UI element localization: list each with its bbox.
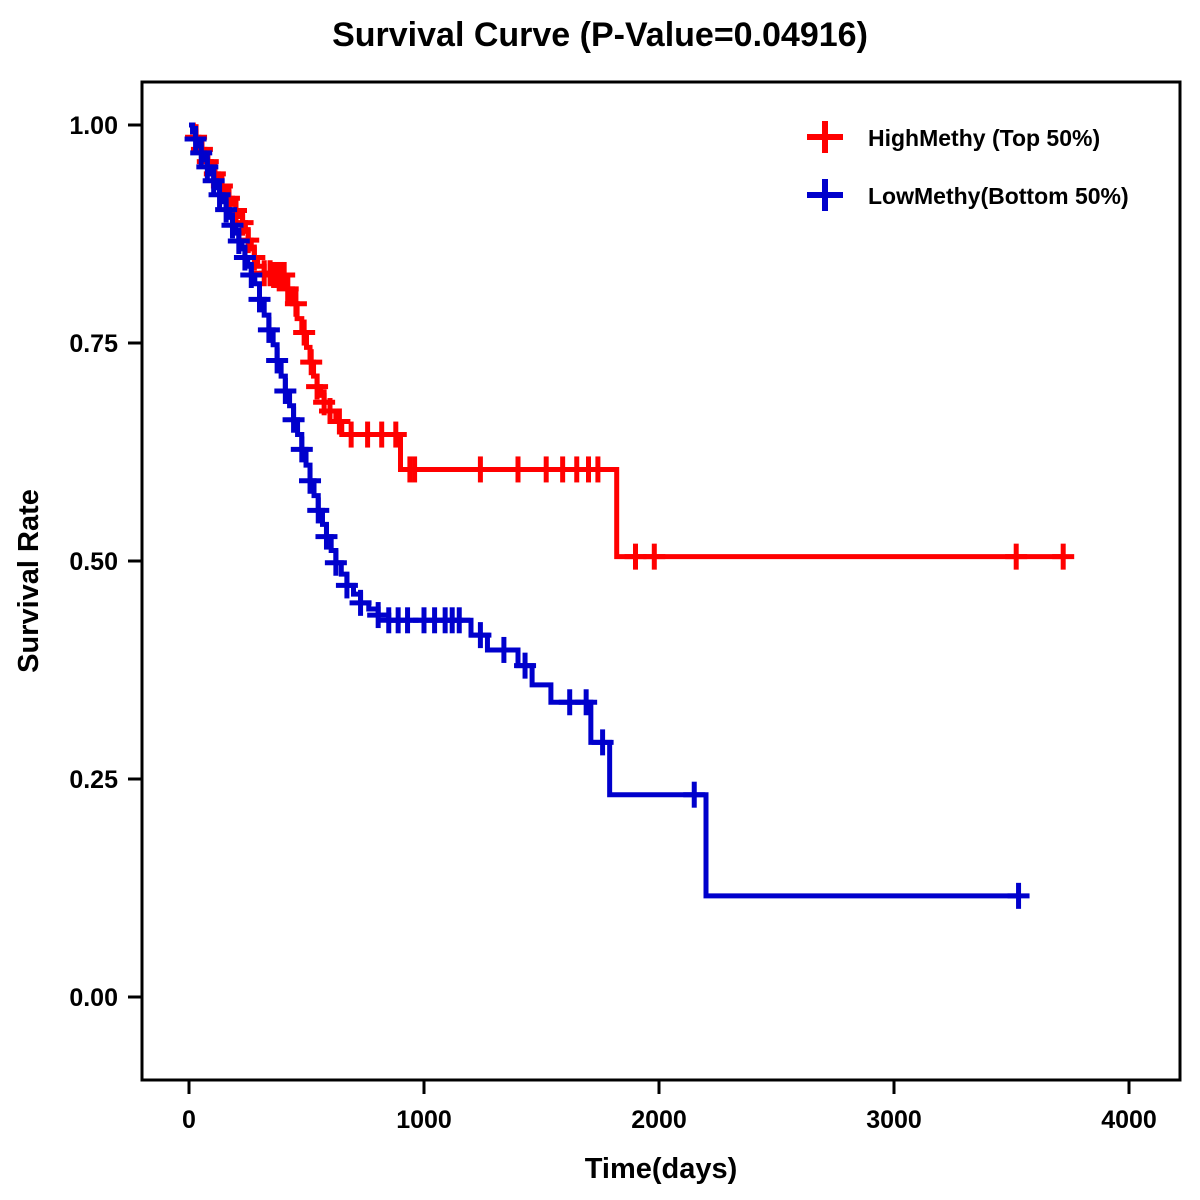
y-tick-label: 1.00 [69,112,118,140]
x-tick-label: 0 [182,1106,196,1134]
legend-item-low-methy[interactable]: LowMethy(Bottom 50%) [807,179,1129,211]
x-tick-label: 3000 [866,1106,922,1134]
legend-item-high-methy[interactable]: HighMethy (Top 50%) [807,121,1100,153]
x-axis-label: Time(days) [585,1153,738,1185]
y-tick-label: 0.50 [69,548,118,576]
legend-label: HighMethy (Top 50%) [868,125,1100,151]
y-tick-label: 0.75 [69,330,118,358]
km-series-low-methy [185,125,1030,909]
legend-label: LowMethy(Bottom 50%) [868,183,1129,209]
y-tick-label: 0.00 [69,984,118,1012]
y-tick-label: 0.25 [69,766,118,794]
x-tick-label: 1000 [396,1106,452,1134]
survival-plot: 010002000300040000.000.250.500.751.00Tim… [0,0,1200,1200]
y-axis-label: Survival Rate [13,489,45,673]
plot-frame [142,82,1180,1080]
survival-chart-page: Survival Curve (P-Value=0.04916) 0100020… [0,0,1200,1200]
x-tick-label: 4000 [1101,1106,1157,1134]
x-tick-label: 2000 [631,1106,687,1134]
